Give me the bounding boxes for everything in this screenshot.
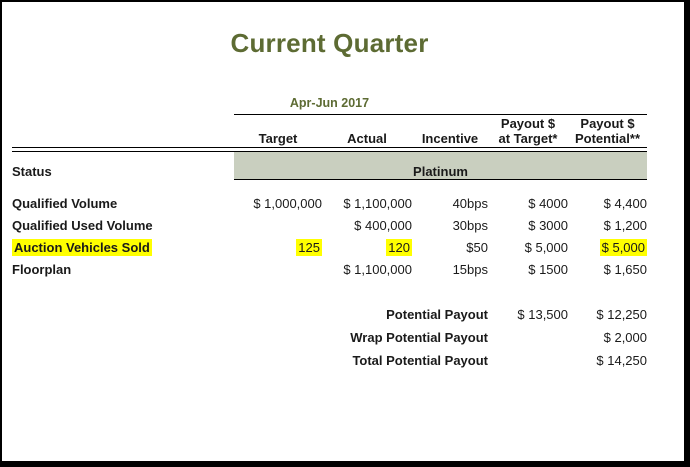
column-header-payout-at-target: Payout $at Target* xyxy=(488,116,568,147)
title-block: Current Quarter xyxy=(2,28,657,59)
row-label-auction-vehicles-sold: Auction Vehicles Sold xyxy=(12,233,234,255)
report-frame: Current Quarter Apr-Jun 2017 Target Actu… xyxy=(0,0,690,467)
payout-potential-line1: Payout $ xyxy=(568,116,647,131)
summary-label-wrap-potential-payout: Wrap Potential Payout xyxy=(12,322,488,345)
summary-payout-potential-potential-payout: $ 12,250 xyxy=(568,299,647,322)
period-label: Apr-Jun 2017 xyxy=(290,96,369,110)
summary-row: Potential Payout $ 13,500 $ 12,250 xyxy=(12,299,647,322)
column-header-blank xyxy=(12,116,234,147)
table-row: Auction Vehicles Sold 125 120 $50 $ 5,00… xyxy=(12,233,647,255)
spacer-cell xyxy=(12,277,647,299)
page-title: Current Quarter xyxy=(2,28,657,59)
status-tier-band: Platinum xyxy=(234,151,647,179)
spacer-cell xyxy=(12,179,647,189)
payout-at-target-line1: Payout $ xyxy=(488,116,568,131)
summary-row: Total Potential Payout $ 14,250 xyxy=(12,345,647,368)
summary-label-potential-payout: Potential Payout xyxy=(12,299,488,322)
cell-actual-qualified-volume: $ 1,100,000 xyxy=(322,189,412,211)
table-row: Qualified Volume $ 1,000,000 $ 1,100,000… xyxy=(12,189,647,211)
table-row: Qualified Used Volume $ 400,000 30bps $ … xyxy=(12,211,647,233)
row-label-qualified-volume: Qualified Volume xyxy=(12,189,234,211)
summary-label-total-potential-payout: Total Potential Payout xyxy=(12,345,488,368)
column-header-payout-potential: Payout $Potential** xyxy=(568,116,647,147)
row-label-qualified-used-volume: Qualified Used Volume xyxy=(12,211,234,233)
cell-payout-potential-auction-vehicles-sold-text: $ 5,000 xyxy=(600,239,647,256)
cell-actual-auction-vehicles-sold-text: 120 xyxy=(386,239,412,256)
cell-payout-at-target-floorplan: $ 1500 xyxy=(488,255,568,277)
cell-incentive-floorplan: 15bps xyxy=(412,255,488,277)
cell-target-qualified-volume: $ 1,000,000 xyxy=(234,189,322,211)
summary-payout-at-target-potential-payout: $ 13,500 xyxy=(488,299,568,322)
cell-payout-potential-qualified-volume: $ 4,400 xyxy=(568,189,647,211)
status-label: Status xyxy=(12,151,234,179)
summary-payout-potential-wrap-potential-payout: $ 2,000 xyxy=(568,322,647,345)
cell-payout-at-target-auction-vehicles-sold: $ 5,000 xyxy=(488,233,568,255)
column-header-row: Target Actual Incentive Payout $at Targe… xyxy=(12,116,647,147)
cell-incentive-qualified-volume: 40bps xyxy=(412,189,488,211)
cell-incentive-auction-vehicles-sold: $50 xyxy=(412,233,488,255)
cell-actual-floorplan: $ 1,100,000 xyxy=(322,255,412,277)
summary-payout-at-target-total-potential-payout xyxy=(488,345,568,368)
column-header-incentive: Incentive xyxy=(412,116,488,147)
payout-at-target-line2: at Target* xyxy=(488,131,568,146)
cell-target-qualified-used-volume xyxy=(234,211,322,233)
cell-payout-at-target-qualified-used-volume: $ 3000 xyxy=(488,211,568,233)
cell-payout-potential-floorplan: $ 1,650 xyxy=(568,255,647,277)
cell-actual-auction-vehicles-sold: 120 xyxy=(322,233,412,255)
cell-incentive-qualified-used-volume: 30bps xyxy=(412,211,488,233)
cell-payout-potential-qualified-used-volume: $ 1,200 xyxy=(568,211,647,233)
row-label-auction-vehicles-sold-text: Auction Vehicles Sold xyxy=(12,239,152,256)
cell-payout-potential-auction-vehicles-sold: $ 5,000 xyxy=(568,233,647,255)
payout-potential-line2: Potential** xyxy=(568,131,647,146)
table-row: Floorplan $ 1,100,000 15bps $ 1500 $ 1,6… xyxy=(12,255,647,277)
column-header-target: Target xyxy=(234,116,322,147)
cell-target-auction-vehicles-sold-text: 125 xyxy=(296,239,322,256)
status-row: Status Platinum xyxy=(12,151,647,179)
period-block: Apr-Jun 2017 xyxy=(2,94,657,112)
summary-payout-at-target-wrap-potential-payout xyxy=(488,322,568,345)
spacer-before-summary xyxy=(12,277,647,299)
row-label-floorplan: Floorplan xyxy=(12,255,234,277)
column-header-actual: Actual xyxy=(322,116,412,147)
incentive-report-table: Target Actual Incentive Payout $at Targe… xyxy=(12,114,647,368)
cell-target-floorplan xyxy=(234,255,322,277)
spacer-after-band xyxy=(12,179,647,189)
summary-payout-potential-total-potential-payout: $ 14,250 xyxy=(568,345,647,368)
cell-target-auction-vehicles-sold: 125 xyxy=(234,233,322,255)
cell-payout-at-target-qualified-volume: $ 4000 xyxy=(488,189,568,211)
cell-actual-qualified-used-volume: $ 400,000 xyxy=(322,211,412,233)
summary-row: Wrap Potential Payout $ 2,000 xyxy=(12,322,647,345)
